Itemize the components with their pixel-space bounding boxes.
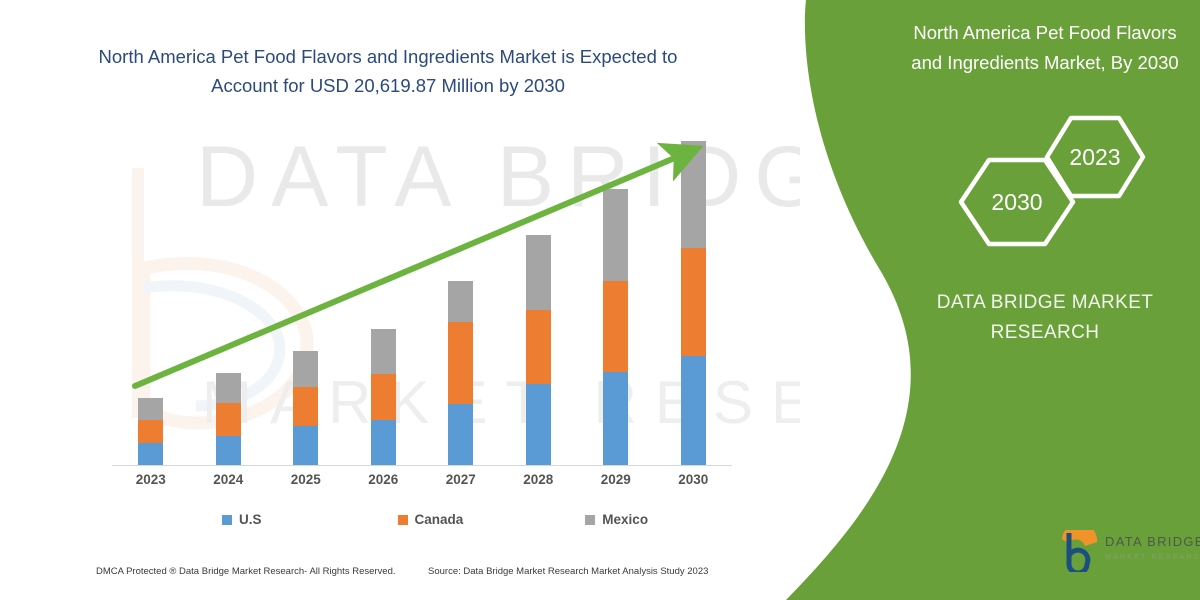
panel-title: North America Pet Food Flavors and Ingre… — [905, 18, 1185, 78]
hexagon-label-2030: 2030 — [991, 189, 1042, 215]
page-title: North America Pet Food Flavors and Ingre… — [78, 42, 698, 100]
bar-chart: 20232024202520262027202820292030 — [80, 140, 740, 470]
bar-slot — [112, 140, 190, 465]
footer-source: Source: Data Bridge Market Research Mark… — [428, 566, 708, 577]
legend-item-us[interactable]: U.S — [222, 512, 262, 527]
x-axis-label: 2028 — [500, 472, 578, 487]
bar-segment-canada — [371, 374, 396, 420]
legend-label: U.S — [239, 512, 262, 527]
logo-subtext: MARKET RESEARCH — [1105, 552, 1200, 561]
bar-segment-us — [138, 443, 163, 465]
footer: DMCA Protected ® Data Bridge Market Rese… — [0, 566, 800, 590]
bar-slot — [422, 140, 500, 465]
databridge-mark-icon — [1057, 530, 1103, 572]
chart-panel: DATA BRIDGE MARKET RESEARCH North Americ… — [0, 0, 800, 600]
legend-swatch-icon — [398, 515, 408, 525]
legend-item-canada[interactable]: Canada — [398, 512, 464, 527]
bar-segment-us — [293, 426, 318, 465]
bar-segment-mexico — [138, 398, 163, 420]
bar-segment-canada — [526, 310, 551, 384]
x-axis-label: 2023 — [112, 472, 190, 487]
bar-segment-us — [448, 404, 473, 465]
bar-slot — [577, 140, 655, 465]
bar-segment-canada — [603, 281, 628, 372]
legend-label: Canada — [415, 512, 464, 527]
x-axis-labels: 20232024202520262027202820292030 — [112, 472, 732, 487]
bar-segment-canada — [448, 322, 473, 404]
bar-slot — [267, 140, 345, 465]
bar-slot — [190, 140, 268, 465]
stacked-bar-2028 — [526, 235, 551, 465]
bar-segment-us — [371, 420, 396, 466]
hexagon-group: 2030 2023 — [923, 112, 1185, 247]
bar-slot — [655, 140, 733, 465]
bar-segment-mexico — [371, 329, 396, 375]
bar-segment-mexico — [681, 141, 706, 248]
x-axis-line — [112, 465, 732, 466]
bar-segment-mexico — [216, 373, 241, 403]
bar-segment-canada — [216, 403, 241, 436]
bar-segment-mexico — [603, 189, 628, 281]
bar-segment-canada — [138, 420, 163, 444]
stacked-bar-2025 — [293, 351, 318, 465]
stacked-bar-2026 — [371, 329, 396, 466]
bar-segment-canada — [681, 248, 706, 355]
bar-slot — [345, 140, 423, 465]
databridge-logo: DATA BRIDGE MARKET RESEARCH — [1057, 528, 1197, 574]
stacked-bar-2029 — [603, 189, 628, 465]
bar-segment-mexico — [526, 235, 551, 310]
legend-swatch-icon — [585, 515, 595, 525]
bar-segment-mexico — [293, 351, 318, 387]
bar-group — [112, 140, 732, 465]
x-axis-label: 2025 — [267, 472, 345, 487]
bar-segment-canada — [293, 387, 318, 426]
legend-item-mexico[interactable]: Mexico — [585, 512, 648, 527]
bar-segment-mexico — [448, 281, 473, 322]
bar-segment-us — [526, 384, 551, 465]
chart-legend: U.SCanadaMexico — [150, 512, 710, 527]
x-axis-label: 2030 — [655, 472, 733, 487]
bar-segment-us — [216, 436, 241, 465]
x-axis-label: 2029 — [577, 472, 655, 487]
logo-text: DATA BRIDGE — [1105, 534, 1200, 549]
green-panel-content: North America Pet Food Flavors and Ingre… — [905, 0, 1200, 600]
x-axis-label: 2024 — [190, 472, 268, 487]
bar-slot — [500, 140, 578, 465]
stacked-bar-2023 — [138, 398, 163, 465]
legend-label: Mexico — [602, 512, 648, 527]
slide-canvas: DATA BRIDGE MARKET RESEARCH North Americ… — [0, 0, 1200, 600]
bar-segment-us — [603, 372, 628, 465]
footer-copyright: DMCA Protected ® Data Bridge Market Rese… — [96, 566, 396, 577]
stacked-bar-2024 — [216, 373, 241, 465]
legend-swatch-icon — [222, 515, 232, 525]
stacked-bar-2030 — [681, 141, 706, 465]
x-axis-label: 2027 — [422, 472, 500, 487]
bar-segment-us — [681, 356, 706, 465]
stacked-bar-2027 — [448, 281, 473, 465]
hexagon-pair-icon: 2030 2023 — [923, 112, 1185, 247]
hexagon-label-2023: 2023 — [1069, 144, 1120, 170]
x-axis-label: 2026 — [345, 472, 423, 487]
panel-brand-name: DATA BRIDGE MARKET RESEARCH — [905, 288, 1185, 348]
